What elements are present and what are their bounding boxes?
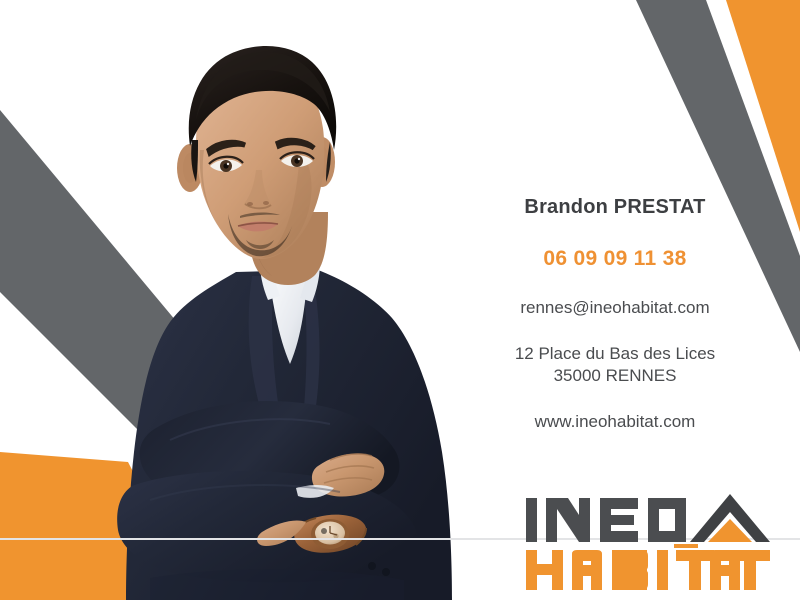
logo-accent-bar	[674, 544, 698, 548]
business-card: Brandon PRESTAT 06 09 09 11 38 rennes@in…	[0, 0, 800, 600]
contact-name: Brandon PRESTAT	[430, 196, 800, 219]
contact-block: Brandon PRESTAT 06 09 09 11 38 rennes@in…	[430, 196, 800, 432]
contact-email[interactable]: rennes@ineohabitat.com	[430, 298, 800, 318]
contact-address: 12 Place du Bas des Lices 35000 RENNES	[430, 343, 800, 387]
logo-word-ineo	[526, 498, 686, 542]
roof-chevron-icon	[690, 494, 770, 542]
address-line-2: 35000 RENNES	[430, 365, 800, 387]
contact-website[interactable]: www.ineohabitat.com	[430, 412, 800, 432]
address-line-1: 12 Place du Bas des Lices	[430, 343, 800, 365]
ineo-habitat-logo[interactable]	[524, 492, 770, 592]
logo-word-habitat	[526, 550, 770, 590]
contact-phone[interactable]: 06 09 09 11 38	[430, 247, 800, 271]
